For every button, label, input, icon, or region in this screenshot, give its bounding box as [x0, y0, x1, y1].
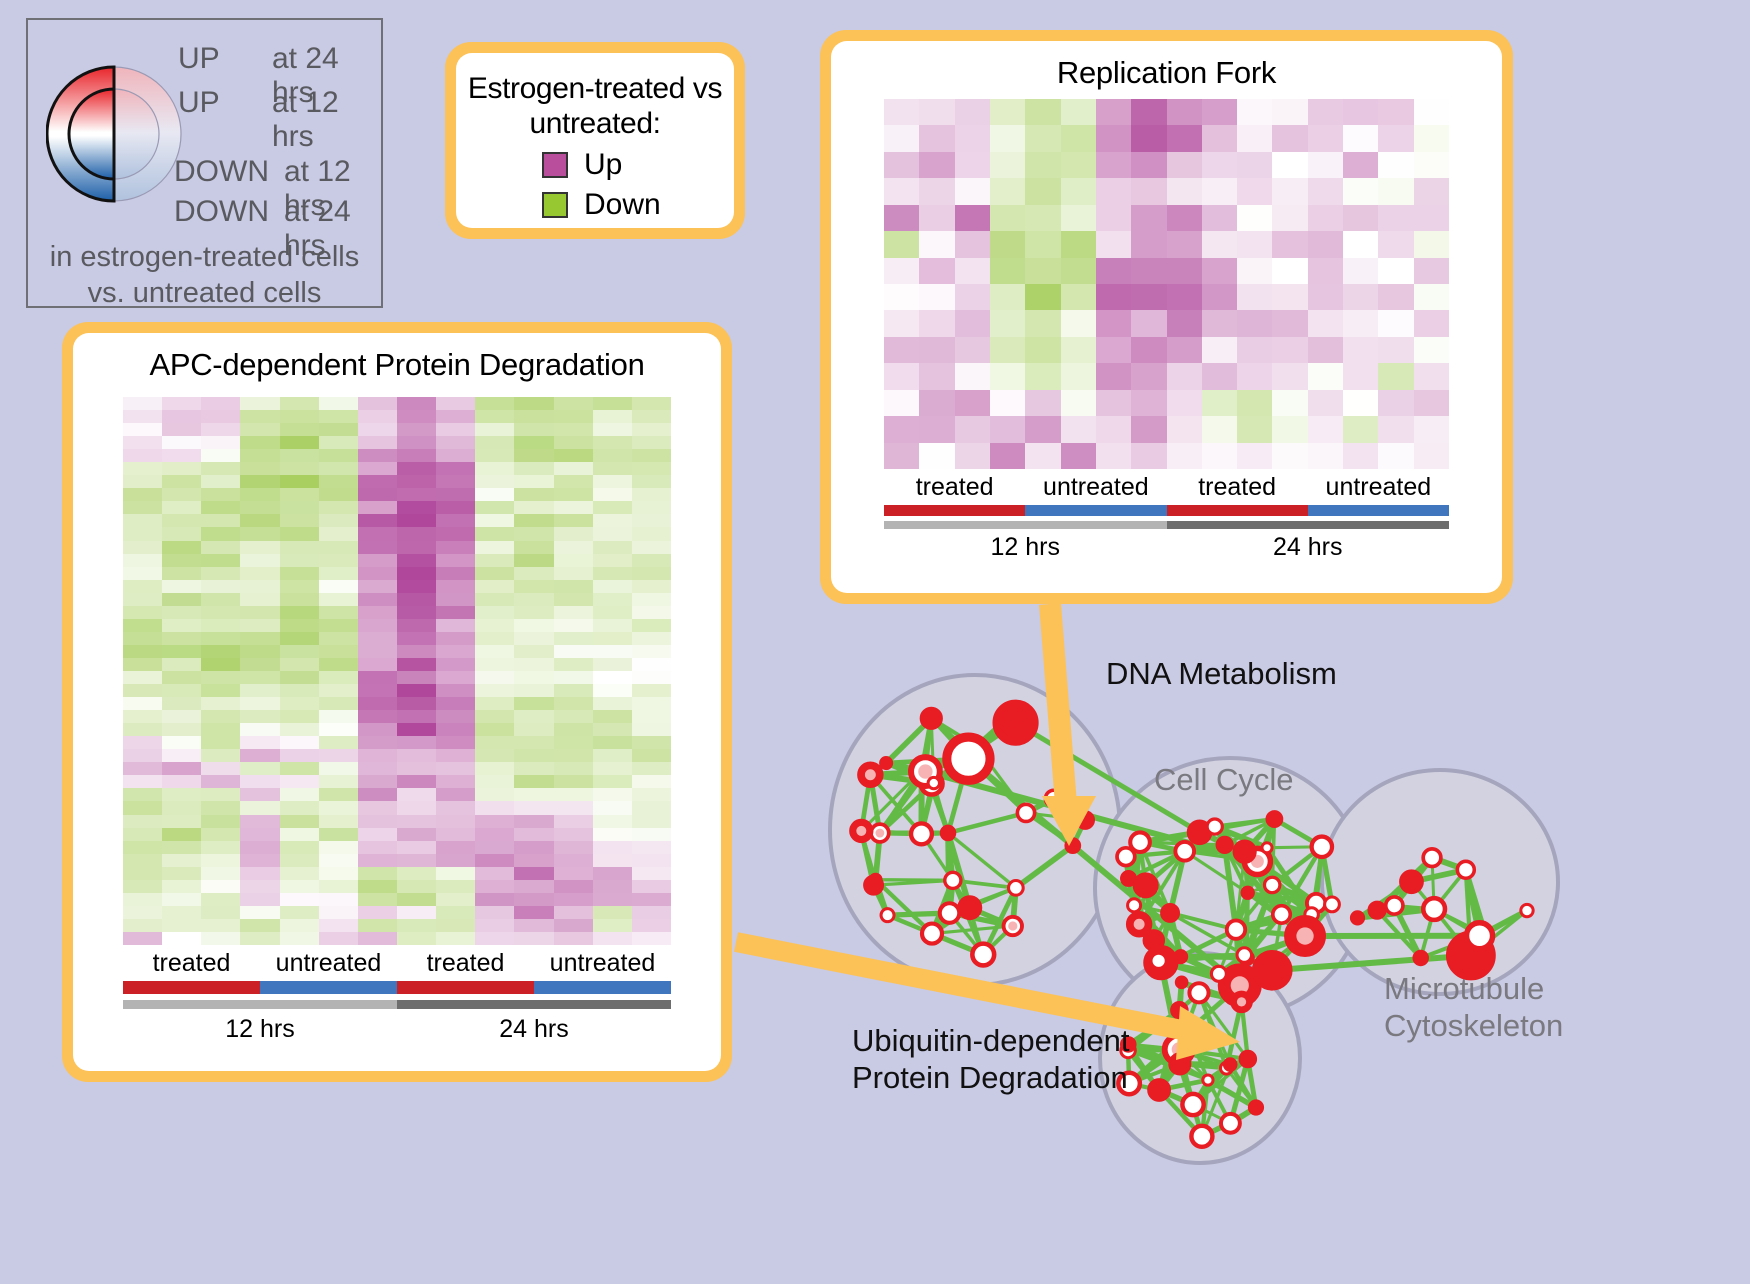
network-node[interactable]: [911, 823, 932, 844]
heatmap-cell: [319, 501, 358, 514]
network-node[interactable]: [1128, 899, 1141, 912]
heatmap-cell: [514, 854, 553, 867]
heatmap-cell: [436, 932, 475, 945]
heatmap-cell: [632, 788, 671, 801]
heatmap-cell: [319, 606, 358, 619]
heatmap-cell: [397, 488, 436, 501]
heatmap-cell: [358, 541, 397, 554]
node-circle: [1045, 790, 1062, 807]
network-node[interactable]: [1351, 912, 1363, 924]
heatmap-cell: [123, 919, 162, 932]
node-circle: [911, 823, 932, 844]
heatmap-cell: [632, 658, 671, 671]
heatmap-cell: [240, 645, 279, 658]
node-circle: [928, 777, 939, 788]
network-node[interactable]: [1170, 1054, 1189, 1073]
heatmap-cell: [1414, 284, 1449, 310]
heatmap-cell: [358, 501, 397, 514]
heatmap-cell: [123, 710, 162, 723]
network-node[interactable]: [1066, 839, 1080, 853]
network-node[interactable]: [870, 874, 881, 885]
heatmap-cell: [201, 541, 240, 554]
heatmap-cell: [162, 514, 201, 527]
heatmap-cell: [632, 867, 671, 880]
heatmap-cell: [514, 410, 553, 423]
heatmap-cell: [436, 423, 475, 436]
heatmap-cell: [358, 658, 397, 671]
heatmap-cell: [1414, 337, 1449, 363]
network-node[interactable]: [1203, 1075, 1213, 1085]
network-node[interactable]: [1149, 1080, 1169, 1100]
network-node[interactable]: [851, 821, 871, 841]
node-circle: [870, 874, 881, 885]
heatmap-cell: [1131, 205, 1166, 231]
heatmap-cell: [397, 501, 436, 514]
network-node[interactable]: [1232, 993, 1251, 1012]
heatmap-cell: [358, 710, 397, 723]
heatmap-cell: [593, 410, 632, 423]
heatmap-cell: [632, 828, 671, 841]
heatmap-cell: [280, 632, 319, 645]
heatmap-cell: [123, 801, 162, 814]
heatmap-cell: [319, 619, 358, 632]
heatmap-cell: [1202, 390, 1237, 416]
heatmap-cell: [319, 815, 358, 828]
heatmap-cell: [1378, 231, 1413, 257]
heatmap-cell: [593, 593, 632, 606]
network-node[interactable]: [1423, 898, 1445, 920]
network-node[interactable]: [1135, 875, 1156, 896]
network-node[interactable]: [1000, 707, 1019, 726]
network-node[interactable]: [1175, 951, 1187, 963]
heatmap-cell: [514, 710, 553, 723]
heatmap-cell: [475, 567, 514, 580]
node-circle: [1237, 948, 1252, 963]
network-node[interactable]: [1172, 1003, 1187, 1018]
heatmap-cell: [240, 775, 279, 788]
heatmap-cell: [358, 906, 397, 919]
heatmap-cell: [1272, 152, 1307, 178]
heatmap-cell: [280, 449, 319, 462]
heatmap-cell: [475, 541, 514, 554]
time-label-12hrs: 12 hrs: [884, 533, 1167, 562]
heatmap-cell: [436, 554, 475, 567]
network-node[interactable]: [1237, 948, 1252, 963]
heatmap-cell: [201, 801, 240, 814]
heatmap-cell: [201, 893, 240, 906]
network-node[interactable]: [959, 897, 980, 918]
heatmap-cell: [162, 541, 201, 554]
node-circle: [959, 897, 980, 918]
network-node[interactable]: [1207, 819, 1222, 834]
heatmap-cell: [280, 684, 319, 697]
heatmap-cell: [436, 541, 475, 554]
heatmap-cell: [955, 443, 990, 469]
heatmap-cell: [632, 762, 671, 775]
heatmap-cell: [123, 488, 162, 501]
heatmap-cell: [632, 710, 671, 723]
heatmap-cell: [162, 867, 201, 880]
apc-degradation-panel: APC-dependent Protein Degradation treate…: [62, 322, 732, 1082]
network-node[interactable]: [1242, 887, 1253, 898]
heatmap-cell: [554, 919, 593, 932]
heatmap-cell: [990, 99, 1025, 125]
cluster-label-ubiquitin-degradation: Ubiquitin-dependent Protein Degradation: [852, 1022, 1130, 1096]
network-node[interactable]: [1191, 1126, 1212, 1147]
heatmap-cell: [201, 775, 240, 788]
heatmap-cell: [593, 527, 632, 540]
heatmap-cell: [1167, 443, 1202, 469]
heatmap-cell: [436, 671, 475, 684]
heatmap-cell: [123, 815, 162, 828]
network-node[interactable]: [1017, 804, 1034, 821]
heatmap-cell: [1378, 363, 1413, 389]
heatmap-cell: [475, 449, 514, 462]
network-node[interactable]: [1175, 842, 1194, 861]
network-node[interactable]: [1077, 812, 1093, 828]
heatmap-cell: [990, 284, 1025, 310]
heatmap-cell: [123, 632, 162, 645]
heatmap-cell: [554, 593, 593, 606]
heatmap-cell: [554, 893, 593, 906]
network-node[interactable]: [1189, 983, 1208, 1002]
down-label: Down: [584, 188, 661, 222]
heatmap-cell: [1308, 258, 1343, 284]
heatmap-cell: [554, 801, 593, 814]
network-node[interactable]: [1457, 861, 1474, 878]
network-node[interactable]: [1288, 919, 1323, 954]
heatmap-cell: [554, 567, 593, 580]
node-circle: [1351, 912, 1363, 924]
heatmap-cell: [1308, 205, 1343, 231]
heatmap-cell: [1096, 231, 1131, 257]
network-node[interactable]: [1004, 917, 1022, 935]
heatmap-cell: [475, 593, 514, 606]
heatmap-cell: [1167, 99, 1202, 125]
heatmap-cell: [397, 749, 436, 762]
heatmap-cell: [884, 152, 919, 178]
heatmap-cell: [201, 736, 240, 749]
heatmap-cell: [280, 815, 319, 828]
heatmap-cell: [1378, 125, 1413, 151]
heatmap-cell: [123, 410, 162, 423]
heatmap-cell: [436, 488, 475, 501]
updown-legend-panel: Estrogen-treated vs untreated: Up Down: [445, 42, 745, 239]
heatmap-cell: [955, 363, 990, 389]
heatmap-cell: [632, 736, 671, 749]
network-node[interactable]: [1182, 1094, 1203, 1115]
heatmap-cell: [240, 710, 279, 723]
heatmap-cell: [436, 658, 475, 671]
network-node[interactable]: [1117, 848, 1135, 866]
axis-group-0: treated: [884, 473, 1025, 502]
heatmap-cell: [123, 723, 162, 736]
network-node[interactable]: [859, 764, 881, 786]
heatmap-cell: [632, 527, 671, 540]
node-inner: [1237, 997, 1246, 1006]
network-node[interactable]: [1224, 1059, 1236, 1071]
network-node[interactable]: [1466, 923, 1492, 949]
heatmap-cell: [123, 762, 162, 775]
network-node[interactable]: [1045, 790, 1062, 807]
node-circle: [1423, 849, 1441, 867]
legend-item-up: Up: [542, 148, 734, 182]
heatmap-cell: [1131, 125, 1166, 151]
heatmap-cell: [397, 567, 436, 580]
heatmap-cell: [1237, 99, 1272, 125]
heatmap-cell: [593, 475, 632, 488]
heatmap-cell: [1061, 178, 1096, 204]
network-node[interactable]: [1312, 837, 1332, 857]
axis-group-2: treated: [1167, 473, 1308, 502]
heatmap-cell: [319, 932, 358, 945]
heatmap-cell: [1414, 416, 1449, 442]
heatmap-cell: [632, 449, 671, 462]
heatmap-cell: [240, 906, 279, 919]
network-node[interactable]: [1264, 877, 1279, 892]
heatmap-cell: [123, 867, 162, 880]
heatmap-cell: [554, 619, 593, 632]
heatmap-cell: [554, 684, 593, 697]
heatmap-cell: [358, 449, 397, 462]
heatmap-cell: [162, 710, 201, 723]
heatmap-cell: [1343, 99, 1378, 125]
heatmap-cell: [632, 775, 671, 788]
heatmap-cell: [514, 462, 553, 475]
heatmap-cell: [475, 867, 514, 880]
heatmap-cell: [436, 619, 475, 632]
heatmap-cell: [1025, 363, 1060, 389]
heatmap-cell: [319, 841, 358, 854]
network-node[interactable]: [928, 777, 939, 788]
heatmap-cell: [1378, 443, 1413, 469]
heatmap-cell: [397, 527, 436, 540]
network-node[interactable]: [1221, 1114, 1240, 1133]
heatmap-cell: [884, 416, 919, 442]
heatmap-cell: [514, 841, 553, 854]
heatmap-cell: [201, 867, 240, 880]
heatmap-cell: [1061, 337, 1096, 363]
heatmap-cell: [280, 645, 319, 658]
heatmap-cell: [1272, 390, 1307, 416]
heatmap-cell: [280, 593, 319, 606]
heatmap-cell: [240, 593, 279, 606]
heatmap-cell: [514, 436, 553, 449]
heatmap-cell: [632, 606, 671, 619]
heatmap-cell: [514, 749, 553, 762]
heatmap-cell: [162, 815, 201, 828]
heatmap-cell: [554, 501, 593, 514]
heatmap-cell: [358, 723, 397, 736]
down-swatch: [542, 192, 568, 218]
heatmap-cell: [397, 671, 436, 684]
network-node[interactable]: [922, 709, 941, 728]
heatmap-cell: [123, 684, 162, 697]
network-node[interactable]: [1151, 953, 1166, 968]
heatmap-cell: [1025, 258, 1060, 284]
node-circle: [1189, 983, 1208, 1002]
heatmap-cell: [475, 488, 514, 501]
heatmap-cell: [632, 580, 671, 593]
network-node[interactable]: [1386, 897, 1403, 914]
heatmap-cell: [514, 541, 553, 554]
heatmap-cell: [514, 723, 553, 736]
network-node[interactable]: [1249, 1101, 1262, 1114]
replication-fork-panel: Replication Fork treated untreated treat…: [820, 30, 1513, 604]
heatmap-cell: [397, 410, 436, 423]
heatmap-cell: [436, 606, 475, 619]
network-node[interactable]: [881, 909, 894, 922]
heatmap-cell: [1378, 337, 1413, 363]
heatmap-cell: [554, 410, 593, 423]
heatmap-cell: [593, 606, 632, 619]
network-node[interactable]: [1009, 881, 1024, 896]
heatmap-cell: [1414, 443, 1449, 469]
heatmap-cell: [475, 697, 514, 710]
network-node[interactable]: [1227, 920, 1245, 938]
node-circle: [1386, 897, 1403, 914]
network-node[interactable]: [871, 824, 889, 842]
heatmap-cell: [632, 619, 671, 632]
heatmap-cell: [1202, 152, 1237, 178]
heatmap-cell: [201, 488, 240, 501]
heatmap-cell: [358, 801, 397, 814]
network-node[interactable]: [1521, 904, 1533, 916]
heatmap-cell: [1237, 390, 1272, 416]
network-node[interactable]: [1401, 872, 1421, 892]
heatmap-cell: [319, 593, 358, 606]
heatmap-cell: [884, 390, 919, 416]
heatmap-cell: [1061, 416, 1096, 442]
network-node[interactable]: [1240, 1051, 1255, 1066]
heatmap-cell: [280, 828, 319, 841]
heatmap-cell: [240, 932, 279, 945]
heatmap-cell: [1025, 178, 1060, 204]
heatmap-cell: [1378, 390, 1413, 416]
heatmap-cell: [1308, 390, 1343, 416]
network-node[interactable]: [1267, 812, 1282, 827]
heatmap-cell: [201, 501, 240, 514]
time-label-24hrs: 24 hrs: [397, 1015, 671, 1044]
network-node[interactable]: [941, 826, 955, 840]
heatmap-cell: [1308, 152, 1343, 178]
network-edge: [876, 880, 953, 881]
heatmap-cell: [358, 619, 397, 632]
up-swatch: [542, 152, 568, 178]
heatmap-cell: [201, 554, 240, 567]
heatmap-cell: [201, 619, 240, 632]
network-node[interactable]: [1211, 966, 1226, 981]
network-node[interactable]: [1273, 906, 1290, 923]
heatmap-cell: [919, 125, 954, 151]
heatmap-cell: [201, 762, 240, 775]
heatmap-cell: [1096, 205, 1131, 231]
network-node[interactable]: [1217, 837, 1232, 852]
heatmap-cell: [280, 501, 319, 514]
heatmap-cell: [397, 828, 436, 841]
heatmap-cell: [593, 449, 632, 462]
heatmap-cell: [397, 619, 436, 632]
network-node[interactable]: [1262, 843, 1272, 853]
heatmap-cell: [1237, 205, 1272, 231]
network-node[interactable]: [1325, 897, 1340, 912]
heatmap-cell: [1308, 178, 1343, 204]
node-circle: [1369, 902, 1385, 918]
time-bar-24hrs: [1167, 521, 1450, 529]
network-node[interactable]: [922, 924, 942, 944]
heatmap-cell: [632, 488, 671, 501]
heatmap-cell: [358, 462, 397, 475]
heatmap-cell: [123, 554, 162, 567]
heatmap-cell: [593, 580, 632, 593]
heatmap-cell: [1414, 178, 1449, 204]
network-node[interactable]: [881, 758, 892, 769]
heatmap-cell: [632, 593, 671, 606]
treatment-bar-3: [534, 981, 671, 994]
heatmap-cell: [475, 841, 514, 854]
heatmap-cell: [280, 619, 319, 632]
heatmap-cell: [240, 658, 279, 671]
heatmap-cell: [240, 541, 279, 554]
network-node[interactable]: [1255, 953, 1289, 987]
heatmap-cell: [436, 788, 475, 801]
network-node[interactable]: [1423, 849, 1441, 867]
key-row-1-time: at 12 hrs: [272, 86, 381, 154]
network-node[interactable]: [1235, 842, 1255, 862]
heatmap-cell: [554, 632, 593, 645]
heatmap-cell: [358, 867, 397, 880]
heatmap-cell: [1061, 125, 1096, 151]
network-node[interactable]: [1414, 951, 1427, 964]
heatmap-cell: [554, 762, 593, 775]
network-node[interactable]: [940, 903, 960, 923]
heatmap-cell: [955, 99, 990, 125]
heatmap-cell: [123, 736, 162, 749]
heatmap-cell: [632, 462, 671, 475]
heatmap-cell: [1025, 443, 1060, 469]
node-inner: [856, 826, 866, 836]
heatmap-cell: [280, 788, 319, 801]
heatmap-cell: [201, 514, 240, 527]
node-circle: [1221, 1114, 1240, 1133]
network-node[interactable]: [1176, 977, 1187, 988]
heatmap-cell: [201, 906, 240, 919]
heatmap-cell: [123, 514, 162, 527]
heatmap-cell: [397, 645, 436, 658]
heatmap-cell: [240, 514, 279, 527]
network-node[interactable]: [945, 872, 961, 888]
network-node[interactable]: [972, 944, 994, 966]
heatmap-cell: [319, 462, 358, 475]
network-node[interactable]: [947, 737, 990, 780]
heatmap-cell: [436, 854, 475, 867]
heatmap-cell: [436, 684, 475, 697]
heatmap-cell: [240, 567, 279, 580]
heatmap-cell: [1096, 178, 1131, 204]
heatmap-cell: [162, 554, 201, 567]
heatmap-cell: [358, 527, 397, 540]
network-node[interactable]: [1162, 905, 1178, 921]
node-circle: [922, 709, 941, 728]
network-node[interactable]: [1369, 902, 1385, 918]
network-node[interactable]: [1128, 913, 1150, 935]
heatmap-cell: [1025, 125, 1060, 151]
heatmap-cell: [280, 697, 319, 710]
heatmap-cell: [554, 397, 593, 410]
heatmap-cell: [632, 801, 671, 814]
heatmap-cell: [397, 514, 436, 527]
heatmap-cell: [397, 475, 436, 488]
